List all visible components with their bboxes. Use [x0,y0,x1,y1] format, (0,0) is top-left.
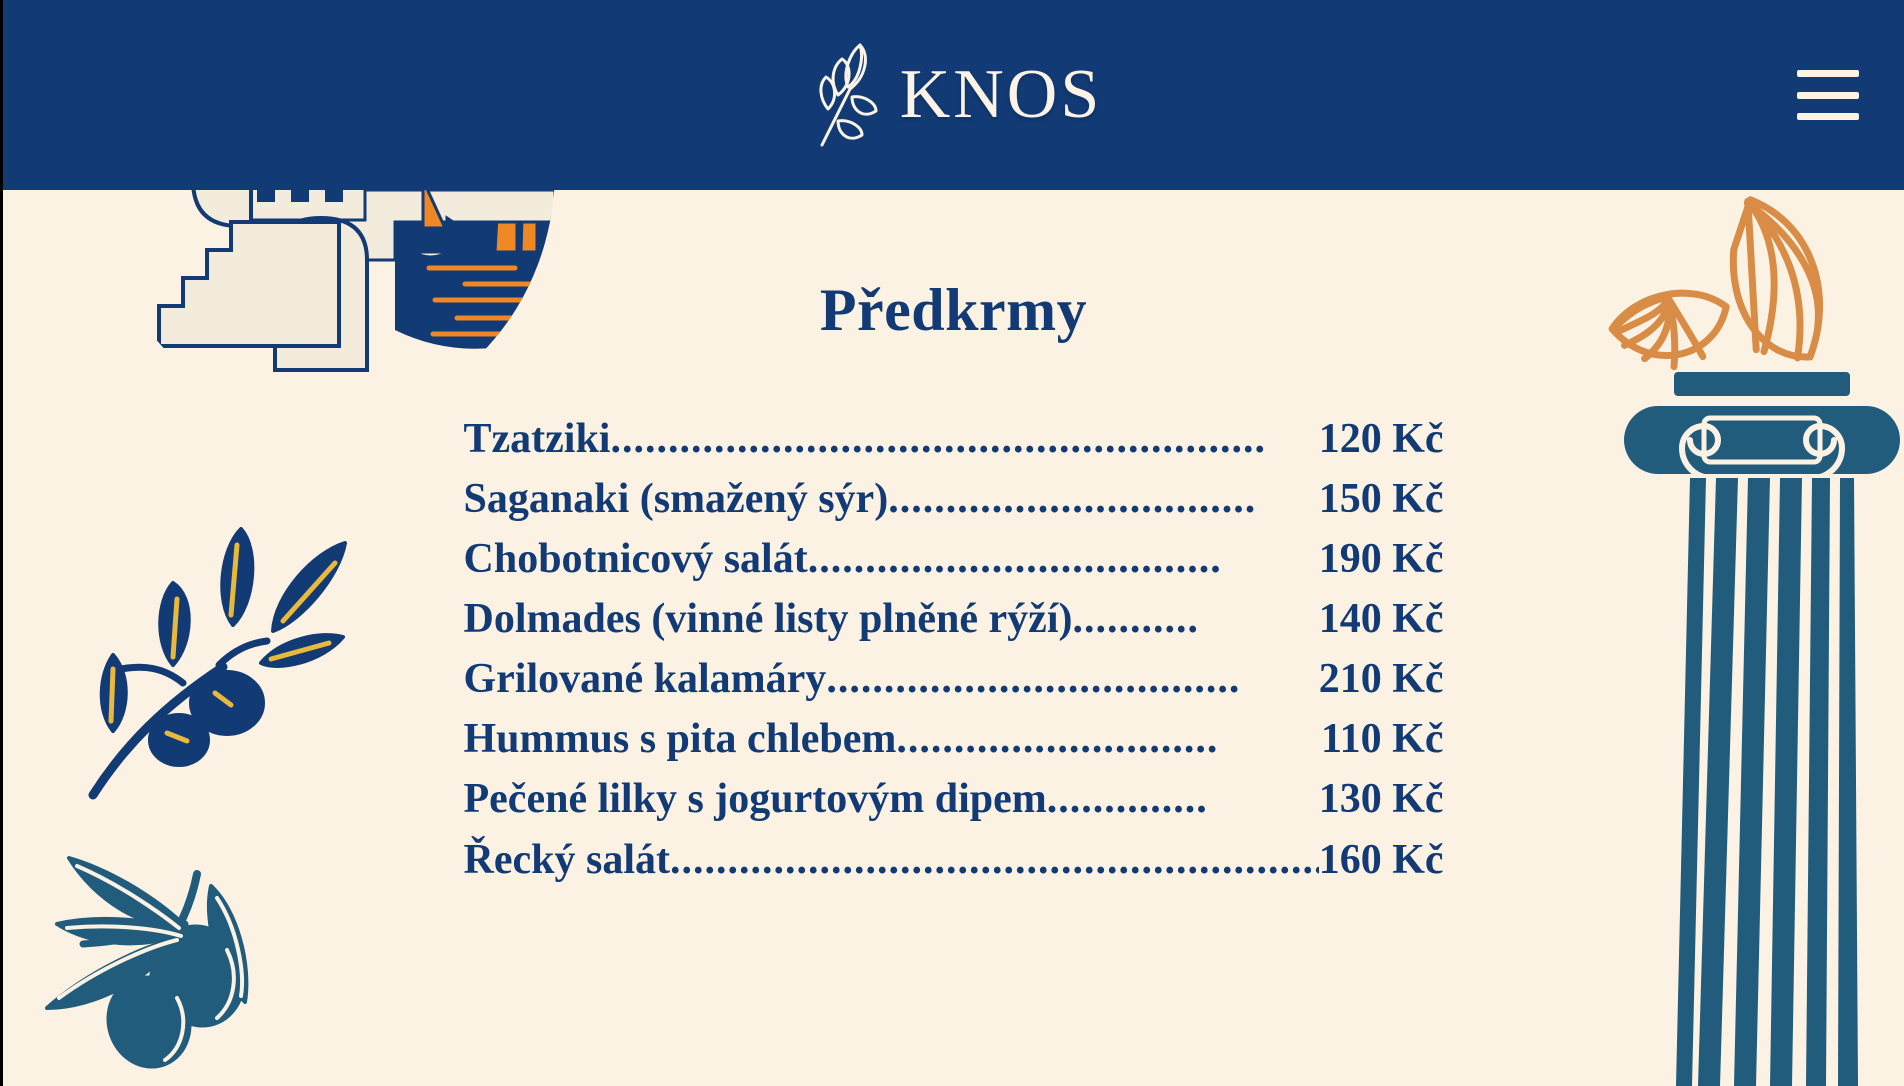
brand-name: KNOS [900,60,1103,130]
menu-item-name: Grilované kalamáry [464,653,827,705]
menu-item-name: Pečené lilky s jogurtovým dipem [464,773,1047,825]
menu-item-leader: ........................................… [670,834,1319,886]
menu-item-row: Grilované kalamáry .....................… [464,653,1444,705]
menu-item-price: 210 Kč [1319,653,1444,705]
menu-items-list: Tzatziki ...............................… [464,413,1444,886]
hamburger-bar-2 [1797,92,1859,99]
page-title: Předkrmy [820,276,1087,345]
menu-page: KNOS [0,0,1904,1086]
menu-item-row: Pečené lilky s jogurtovým dipem ........… [464,773,1444,825]
hamburger-bar-1 [1797,70,1859,77]
menu-item-price: 150 Kč [1319,473,1444,525]
brand-logo[interactable]: KNOS [3,0,1904,190]
site-header: KNOS [3,0,1904,190]
menu-item-price: 130 Kč [1319,773,1444,825]
menu-item-leader: ............................ [896,713,1321,765]
olive-branch-icon [808,41,882,153]
hamburger-menu-icon[interactable] [1797,70,1859,120]
menu-item-price: 110 Kč [1321,713,1444,765]
menu-item-name: Saganaki (smažený sýr) [464,473,889,525]
menu-item-leader: ........................................… [610,413,1318,465]
menu-item-leader: .............. [1047,773,1319,825]
menu-item-name: Chobotnicový salát [464,533,808,585]
menu-item-price: 190 Kč [1319,533,1444,585]
menu-item-price: 160 Kč [1319,834,1444,886]
menu-item-row: Řecký salát ............................… [464,834,1444,886]
menu-item-leader: .................................... [808,533,1319,585]
menu-item-row: Chobotnicový salát .....................… [464,533,1444,585]
menu-item-row: Tzatziki ...............................… [464,413,1444,465]
menu-item-name: Hummus s pita chlebem [464,713,897,765]
menu-item-name: Řecký salát [464,834,670,886]
menu-item-name: Tzatziki [464,413,611,465]
menu-item-row: Dolmades (vinné listy plněné rýží) .....… [464,593,1444,645]
menu-item-leader: ................................ [888,473,1319,525]
menu-item-row: Hummus s pita chlebem ..................… [464,713,1444,765]
menu-item-leader: ........... [1072,593,1318,645]
menu-item-price: 140 Kč [1319,593,1444,645]
menu-item-leader: .................................... [826,653,1318,705]
menu-item-row: Saganaki (smažený sýr) .................… [464,473,1444,525]
menu-item-price: 120 Kč [1319,413,1444,465]
menu-content: Předkrmy Tzatziki ......................… [3,190,1904,886]
hamburger-bar-3 [1797,113,1859,120]
menu-item-name: Dolmades (vinné listy plněné rýží) [464,593,1073,645]
